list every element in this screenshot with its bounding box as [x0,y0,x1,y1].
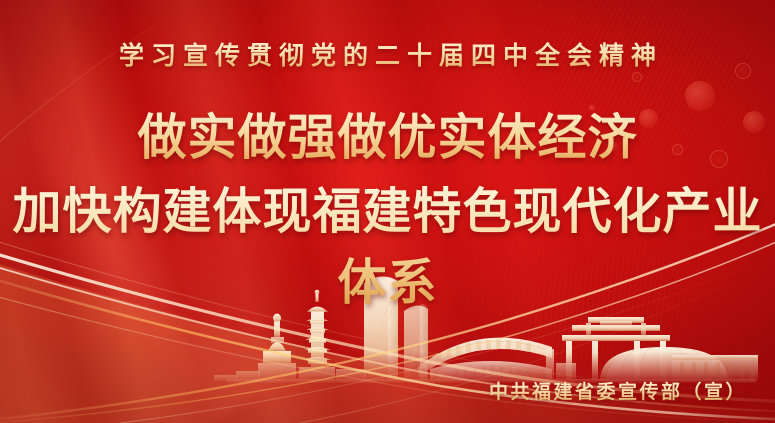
poster-title-line-1: 做实做强做优实体经济 [0,98,775,169]
poster-signature: 中共福建省委宣传部（宣） [489,377,747,404]
poster-header-line: 学习宣传贯彻党的二十届四中全会精神 [0,36,775,72]
propaganda-poster: 学习宣传贯彻党的二十届四中全会精神 做实做强做优实体经济 加快构建体现福建特色现… [0,0,775,423]
poster-title-line-2: 加快构建体现福建特色现代化产业体系 [0,172,775,314]
